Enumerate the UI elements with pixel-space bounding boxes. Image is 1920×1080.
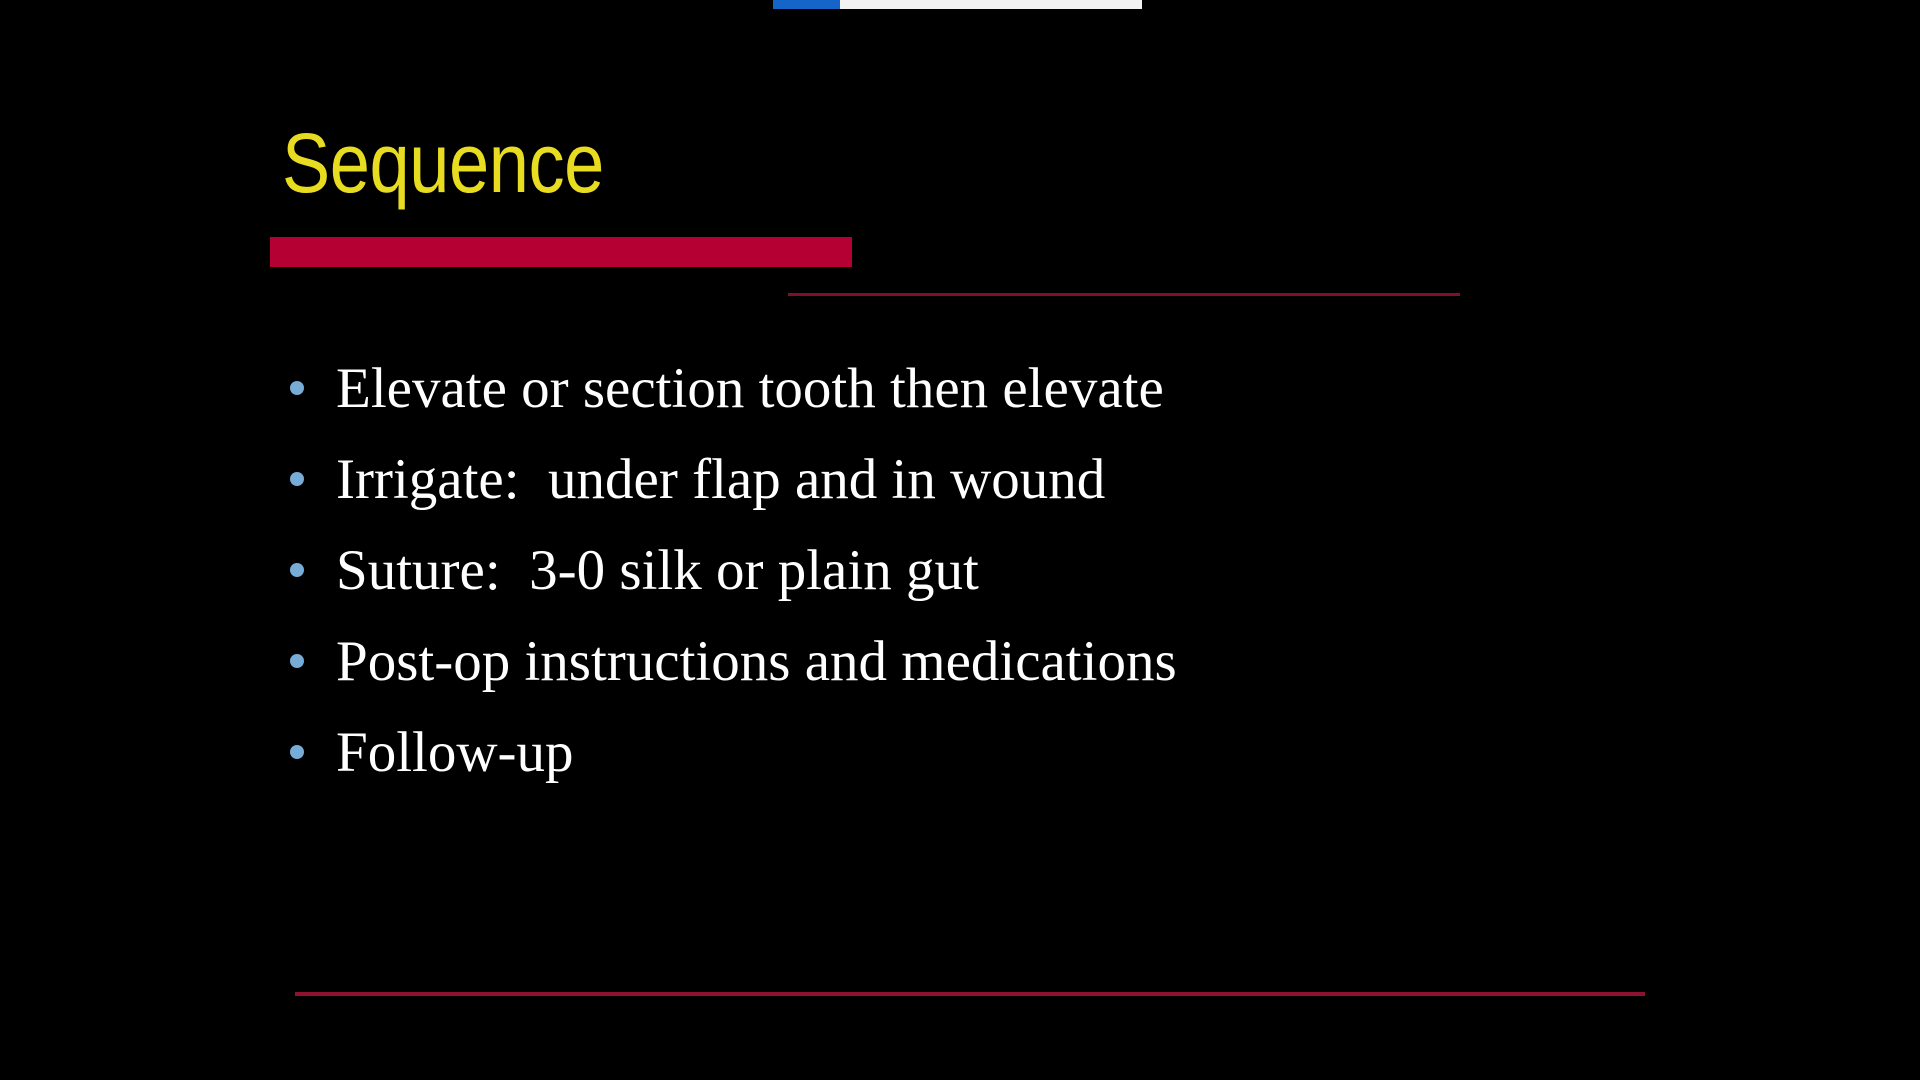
top-strip-blue-segment — [773, 0, 840, 9]
list-item-label: Follow-up — [336, 722, 1690, 784]
title-accent-bar — [270, 237, 852, 267]
list-item-label: Elevate or section tooth then elevate — [336, 358, 1690, 420]
list-item-label: Post-op instructions and medications — [336, 631, 1690, 693]
bullet-dot-icon — [290, 654, 304, 668]
bullet-dot-icon — [290, 472, 304, 486]
list-item: Post-op instructions and medications — [290, 631, 1690, 722]
bullet-list: Elevate or section tooth then elevate Ir… — [290, 358, 1690, 813]
decorative-rule-bottom — [295, 992, 1645, 996]
top-strip-white-segment — [840, 0, 1142, 9]
bullet-dot-icon — [290, 381, 304, 395]
bullet-dot-icon — [290, 745, 304, 759]
slide-title: Sequence — [282, 118, 604, 208]
bullet-dot-icon — [290, 563, 304, 577]
list-item: Suture: 3-0 silk or plain gut — [290, 540, 1690, 631]
list-item-label: Suture: 3-0 silk or plain gut — [336, 540, 1690, 602]
list-item: Elevate or section tooth then elevate — [290, 358, 1690, 449]
list-item: Follow-up — [290, 722, 1690, 813]
top-cropped-strip — [0, 0, 1920, 9]
list-item: Irrigate: under flap and in wound — [290, 449, 1690, 540]
decorative-rule-upper — [788, 293, 1460, 296]
presentation-slide: Sequence Elevate or section tooth then e… — [0, 0, 1920, 1080]
list-item-label: Irrigate: under flap and in wound — [336, 449, 1690, 511]
